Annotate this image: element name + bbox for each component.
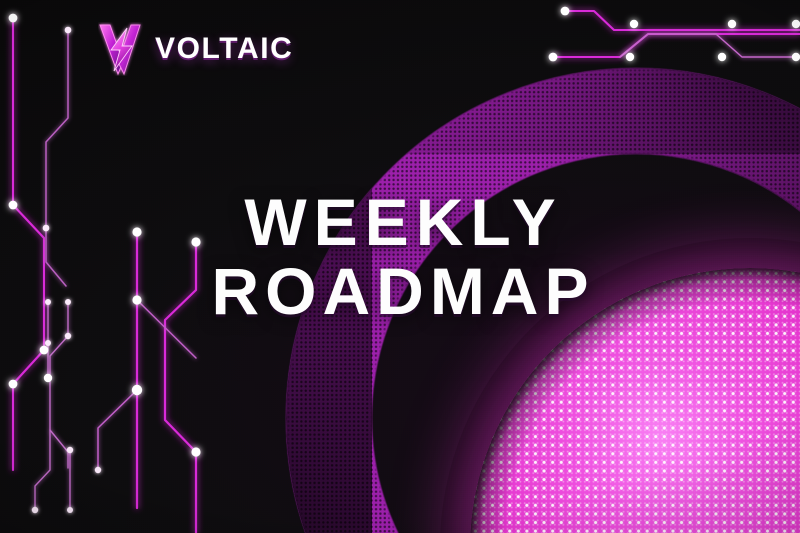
page-title: WEEKLY ROADMAP <box>0 191 800 324</box>
voltaic-wordmark: VOLTAIC <box>155 34 293 64</box>
weekly-roadmap-banner: VOLTAIC WEEKLY ROADMAP <box>0 0 800 533</box>
headline-line-1: WEEKLY <box>0 191 800 254</box>
voltaic-logo-lockup[interactable]: VOLTAIC <box>98 21 293 77</box>
voltaic-lightning-v-icon <box>98 22 144 76</box>
headline-line-2: ROADMAP <box>0 260 800 323</box>
